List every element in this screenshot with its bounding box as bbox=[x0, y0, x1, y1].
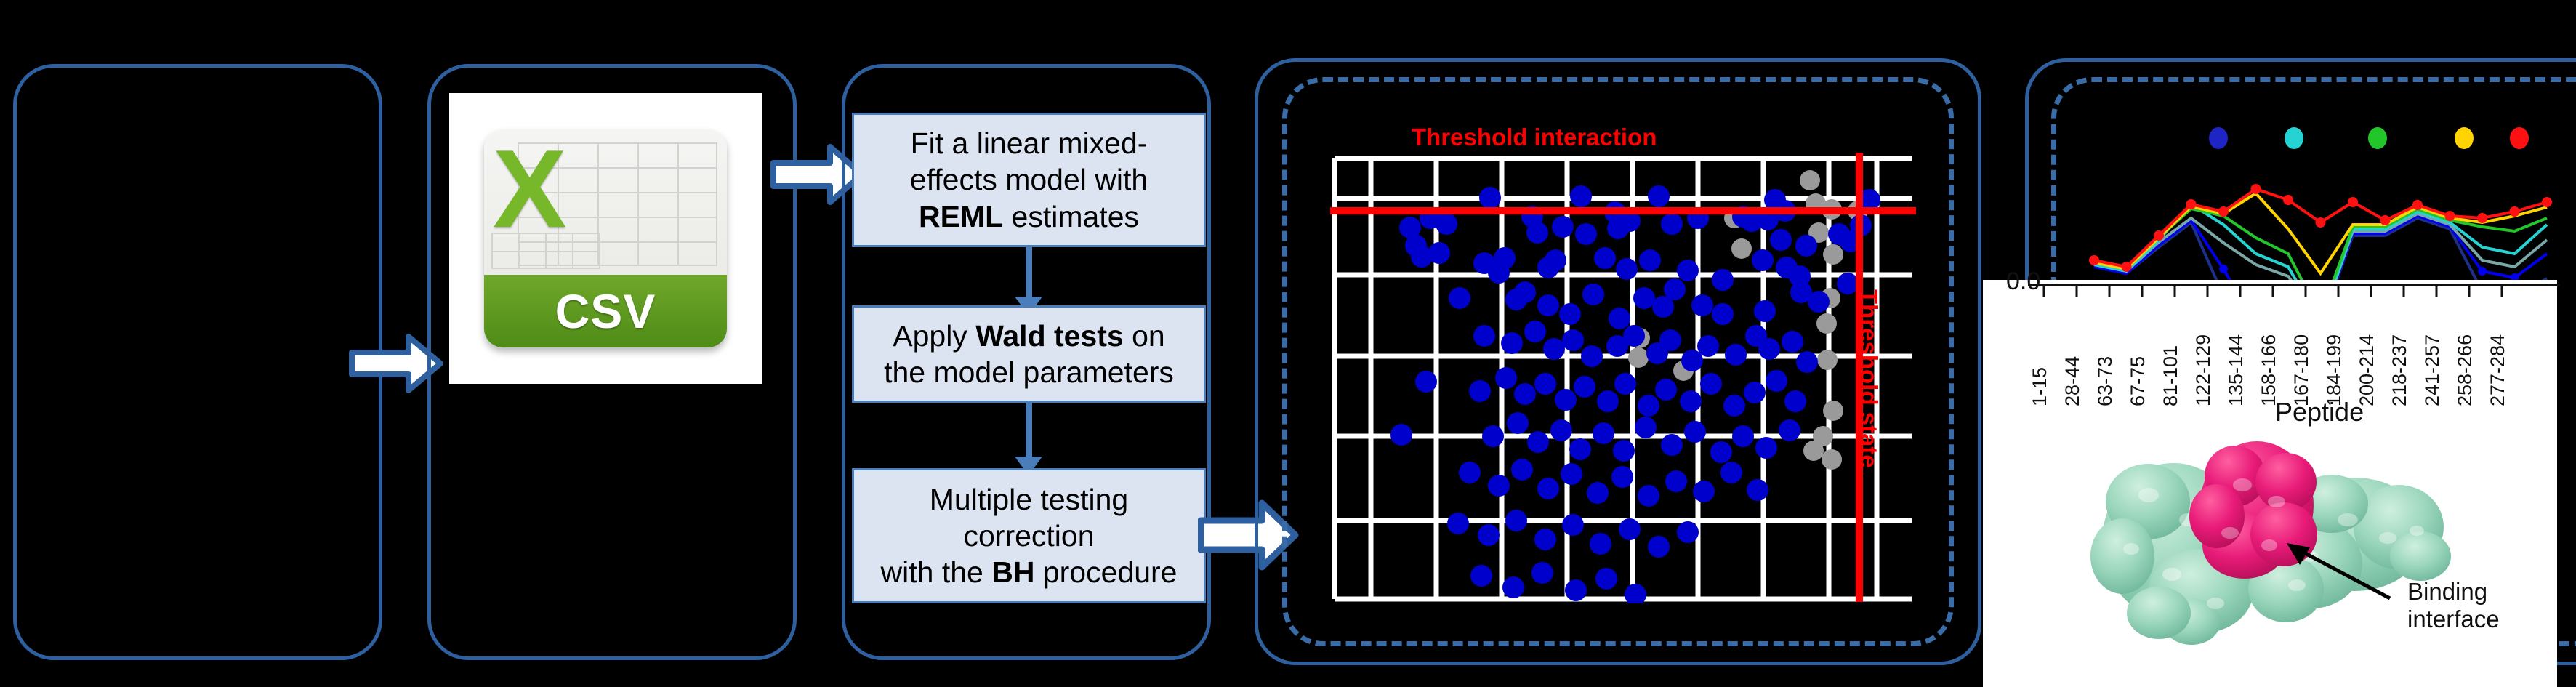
csv-file-card[interactable]: X CSV bbox=[449, 93, 762, 384]
binding-interface-label: Binding interface bbox=[2407, 578, 2500, 634]
peptide-tick-6: 135-144 bbox=[2225, 334, 2247, 406]
fit-model-box[interactable]: Fit a linear mixed-effects model withREM… bbox=[852, 113, 1206, 247]
csv-band-label: CSV bbox=[555, 284, 656, 339]
connector-wald-to-bh bbox=[1026, 403, 1032, 459]
binding-interface-line2: interface bbox=[2407, 606, 2500, 633]
multiple-testing-box[interactable]: Multiple testingcorrectionwith the BH pr… bbox=[852, 468, 1206, 603]
peptide-tick-4: 81-101 bbox=[2160, 345, 2182, 406]
legend-dot-blue bbox=[2209, 127, 2228, 149]
workflow-diagram: X CSV Fit a linear mixed-effects model w… bbox=[0, 0, 2576, 687]
threshold-state-label: Threshold state bbox=[1855, 289, 1883, 468]
fit-model-box-text: Fit a linear mixed-effects model withREM… bbox=[910, 125, 1148, 234]
x-axis-title: Peptide bbox=[2275, 397, 2364, 427]
peptide-tick-0: 1-15 bbox=[2029, 367, 2051, 406]
legend-dot-yellow bbox=[2455, 127, 2474, 149]
peptide-tick-13: 258-266 bbox=[2454, 334, 2476, 406]
peptide-tick-7: 158-166 bbox=[2258, 334, 2280, 406]
legend-dot-green bbox=[2368, 127, 2387, 149]
peptide-tick-10: 200-214 bbox=[2356, 334, 2378, 406]
chart-legend bbox=[2209, 127, 2529, 149]
binding-interface-line1: Binding bbox=[2407, 578, 2500, 606]
peptide-tick-5: 122-129 bbox=[2192, 334, 2215, 406]
peptide-tick-11: 218-237 bbox=[2388, 334, 2411, 406]
legend-dot-cyan bbox=[2285, 127, 2303, 149]
excel-x-letter: X bbox=[493, 134, 566, 244]
peptide-tick-12: 241-257 bbox=[2421, 334, 2444, 406]
threshold-interaction-label: Threshold interaction bbox=[1412, 124, 1657, 151]
peptide-tick-9: 184-199 bbox=[2323, 334, 2346, 406]
legend-dot-red bbox=[2510, 127, 2529, 149]
wald-tests-box-text: Apply Wald tests onthe model parameters bbox=[884, 318, 1174, 390]
volcano-plot[interactable]: Threshold interaction bbox=[1330, 131, 1919, 603]
data-input-panel[interactable] bbox=[13, 64, 382, 660]
connector-fit-to-wald bbox=[1026, 247, 1032, 300]
csv-band: CSV bbox=[484, 275, 727, 347]
peptide-tick-8: 167-180 bbox=[2290, 334, 2313, 406]
peptide-tick-14: 277-284 bbox=[2487, 334, 2509, 406]
wald-tests-box[interactable]: Apply Wald tests onthe model parameters bbox=[852, 305, 1206, 403]
peptide-tick-3: 67-75 bbox=[2127, 356, 2149, 406]
peptide-x-axis bbox=[2028, 282, 2566, 298]
multiple-testing-box-text: Multiple testingcorrectionwith the BH pr… bbox=[881, 481, 1178, 590]
volcano-plot-svg bbox=[1330, 131, 1919, 603]
peptide-tick-2: 63-73 bbox=[2094, 356, 2117, 406]
csv-file-icon: X CSV bbox=[484, 129, 727, 347]
peptide-tick-1: 28-44 bbox=[2061, 356, 2084, 406]
